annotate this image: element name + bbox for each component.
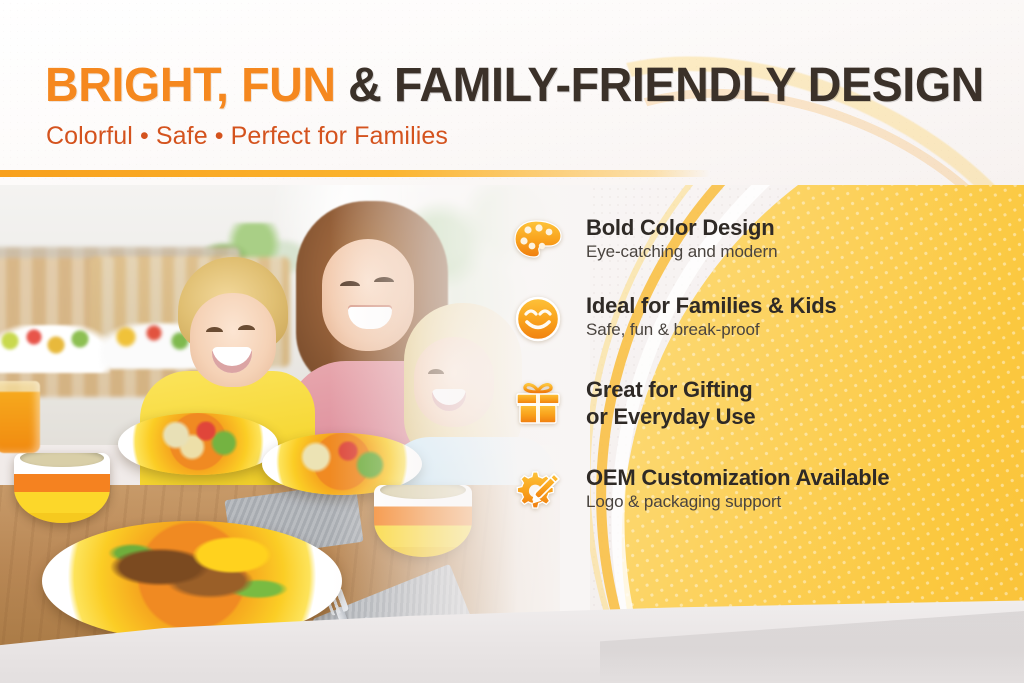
feature-title: Bold Color Design xyxy=(586,214,777,241)
smiley-face-icon xyxy=(512,293,564,345)
banner-body: Bold Color Design Eye-catching and moder… xyxy=(0,185,1024,683)
photo-mother-face xyxy=(322,239,414,351)
photo-salad-platter-left xyxy=(0,325,110,373)
photo-girl-eye xyxy=(428,369,444,374)
photo-girl-face xyxy=(414,337,494,427)
banner-header: BRIGHT, FUN & FAMILY-FRIENDLY DESIGN Col… xyxy=(0,0,1024,185)
palette-icon xyxy=(512,215,564,267)
feature-title: OEM Customization Available xyxy=(586,464,889,491)
header-divider-bar xyxy=(0,170,710,177)
photo-mother-eye-right xyxy=(374,277,394,282)
photo-boy-eye-left xyxy=(206,327,223,332)
photo-bowl-left xyxy=(14,453,110,523)
feature-item-ideal-for-families: Ideal for Families & Kids Safe, fun & br… xyxy=(512,291,982,345)
feature-title: Ideal for Families & Kids xyxy=(586,292,837,319)
feature-text-block: Ideal for Families & Kids Safe, fun & br… xyxy=(586,291,837,341)
promo-banner: BRIGHT, FUN & FAMILY-FRIENDLY DESIGN Col… xyxy=(0,0,1024,683)
feature-text-block: Great for Gifting or Everyday Use xyxy=(586,375,755,431)
photo-boy-eye-right xyxy=(238,325,255,330)
feature-subtitle: Safe, fun & break-proof xyxy=(586,320,837,341)
photo-food-upper-right xyxy=(292,441,392,483)
feature-title: Great for Gifting xyxy=(586,376,755,403)
title-highlight: BRIGHT, FUN xyxy=(45,59,336,112)
photo-mother-eye-left xyxy=(340,281,360,286)
gift-box-icon xyxy=(512,377,564,429)
photo-food-upper-left xyxy=(150,421,250,461)
feature-item-bold-color-design: Bold Color Design Eye-catching and moder… xyxy=(512,213,982,267)
photo-orange-juice-glass xyxy=(0,381,40,453)
feature-item-great-for-gifting: Great for Gifting or Everyday Use xyxy=(512,375,982,431)
feature-text-block: Bold Color Design Eye-catching and moder… xyxy=(586,213,777,263)
page-subtitle: Colorful • Safe • Perfect for Families xyxy=(46,122,448,151)
feature-title-line2: or Everyday Use xyxy=(586,403,755,430)
feature-subtitle: Eye-catching and modern xyxy=(586,242,777,263)
